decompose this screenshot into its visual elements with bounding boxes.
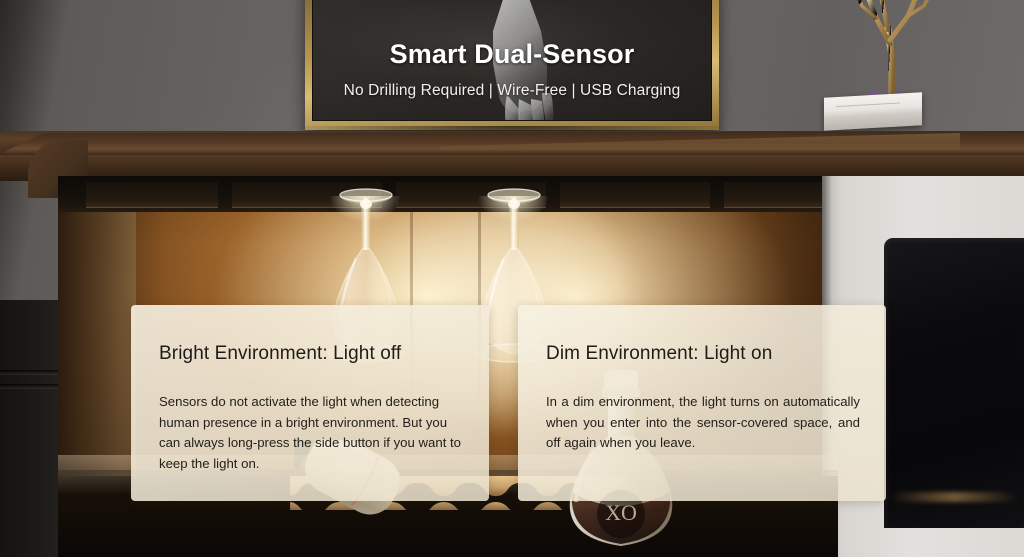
marble-base [824,92,922,130]
info-card-body: In a dim environment, the light turns on… [546,392,860,454]
oven-glass-door [884,238,1024,528]
poster-subtitle: No Drilling Required | Wire-Free | USB C… [313,82,711,100]
product-scene: Smart Dual-Sensor No Drilling Required |… [0,0,1024,557]
info-card-body-text: In a dim environment, the light turns on… [546,392,860,454]
glass-rail [86,182,218,208]
poster-text-block: Smart Dual-Sensor No Drilling Required |… [313,39,711,100]
decanter-xo-label: XO [605,500,637,525]
glass-rail [724,182,828,208]
poster-artwork: Smart Dual-Sensor No Drilling Required |… [312,0,712,121]
info-card-dim-environment: Dim Environment: Light on In a dim envir… [518,305,886,501]
framed-poster: Smart Dual-Sensor No Drilling Required |… [305,0,719,130]
oven-door-glint [890,492,1018,502]
poster-title: Smart Dual-Sensor [313,39,711,70]
marble-vein [836,102,900,107]
cabinet-top [0,131,1024,181]
info-card-title: Dim Environment: Light on [546,343,860,365]
glass-rail [560,182,710,208]
info-card-title: Bright Environment: Light off [159,343,463,365]
info-card-body-text: Sensors do not activate the light when d… [159,392,463,474]
info-card-body: Sensors do not activate the light when d… [159,392,463,474]
info-card-bright-environment: Bright Environment: Light off Sensors do… [131,305,489,501]
